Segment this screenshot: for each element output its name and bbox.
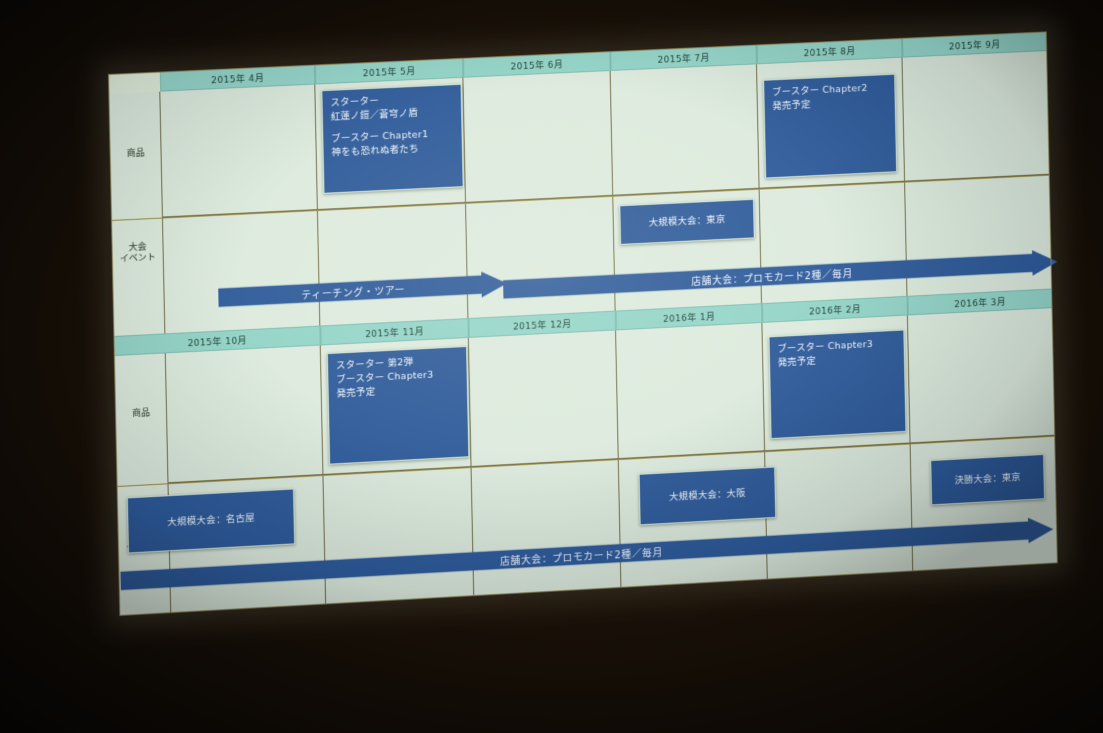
- event-box-major-tournament-tokyo[interactable]: 大規模大会：東京: [619, 199, 754, 245]
- cell-products-2015-06: [463, 71, 613, 203]
- cell-events-2016-02: [765, 443, 913, 579]
- cell-products-2015-10: [166, 345, 324, 483]
- grid-body-a: 商品 大会 イベント スター: [108, 51, 1052, 336]
- row-label-products-a: 商品: [110, 148, 162, 161]
- event-box-major-tournament-osaka[interactable]: 大規模大会：大阪: [639, 467, 777, 526]
- event-box-major-tournament-nagoya[interactable]: 大規模大会：名古屋: [127, 488, 295, 553]
- presentation-slide: 2015年 4月 2015年 5月 2015年 6月 2015年 7月 2015…: [108, 31, 1058, 616]
- cell-events-2015-05: [318, 203, 469, 326]
- cell-events-2015-06: [466, 196, 616, 318]
- cell-products-2016-03: [908, 308, 1055, 443]
- cell-products-2015-07: [611, 64, 760, 195]
- row-label-column-a: 商品 大会 イベント: [108, 92, 165, 336]
- product-box-booster-chapter3[interactable]: ブースター Chapter3 発売予定: [769, 329, 907, 439]
- cell-events-2015-12: [472, 459, 622, 596]
- cell-products-2015-04: [160, 85, 318, 218]
- product-box-starter-chapter1[interactable]: スターター 紅蓮ノ鎧／蒼穹ノ盾 ブースター Chapter1 神をも恐れぬ者たち: [321, 84, 463, 194]
- cell-products-2016-01: [616, 323, 765, 459]
- cell-events-2015-09: [905, 175, 1052, 296]
- row-label-events-a-line2: イベント: [112, 252, 164, 266]
- product-box-booster-chapter2[interactable]: ブースター Chapter2 発売予定: [763, 74, 897, 179]
- projection-room: 2015年 4月 2015年 5月 2015年 6月 2015年 7月 2015…: [0, 0, 1103, 733]
- timeline-block-second-half: 2015年 10月 2015年 11月 2015年 12月 2016年 1月 2…: [113, 288, 1057, 616]
- cell-events-2015-11: [323, 467, 474, 604]
- row-label-products-b: 商品: [115, 407, 167, 421]
- grid-body-b: 商品 大会 イベント スター: [114, 308, 1058, 616]
- cell-products-2015-12: [469, 330, 619, 467]
- timeline-block-first-half: 2015年 4月 2015年 5月 2015年 6月 2015年 7月 2015…: [108, 31, 1052, 336]
- cell-products-2015-09: [902, 51, 1049, 182]
- arrow-teaching-tour-label: ティーチング・ツアー: [301, 281, 405, 301]
- cell-events-2015-04: [163, 210, 320, 333]
- cell-events-2015-08: [760, 182, 908, 304]
- event-box-final-tournament-tokyo[interactable]: 決勝大会：東京: [930, 454, 1045, 505]
- product-box-starter-2nd-chapter3[interactable]: スターター 第2弾 ブースター Chapter3 発売予定: [327, 346, 470, 465]
